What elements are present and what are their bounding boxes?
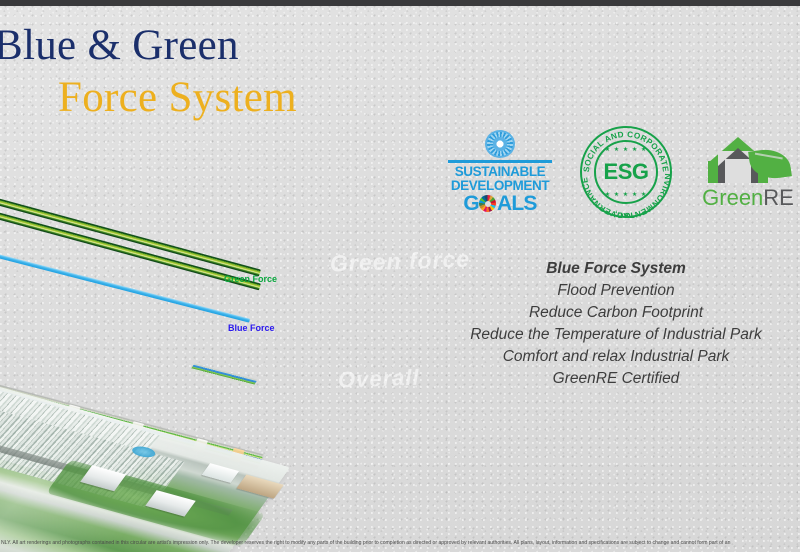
esg-center-text: ESG — [580, 159, 672, 185]
greenre-logo: GreenRE — [700, 135, 796, 210]
feature-heading: Blue Force System — [440, 258, 792, 280]
certification-logos: SUSTAINABLE DEVELOPMENT G ALS SOCIAL AND… — [448, 124, 796, 220]
sdg-color-wheel-icon — [479, 195, 496, 212]
esg-stars-top: ★ ★ ★ ★ ★ — [580, 146, 672, 153]
blue-force-feature-list: Blue Force System Flood Prevention Reduc… — [440, 258, 792, 390]
feature-item: Reduce Carbon Footprint — [440, 302, 792, 324]
window-top-bar — [0, 0, 800, 6]
feature-item: Flood Prevention — [440, 280, 792, 302]
title-line-force-system: Force System — [58, 72, 420, 124]
greenre-word-re: RE — [763, 185, 794, 210]
title-line-blue-and-green: Blue & Green — [0, 20, 420, 72]
green-force-band-lower — [0, 208, 261, 290]
greenre-word-green: Green — [702, 185, 763, 210]
page-title: Blue & Green Force System — [0, 20, 420, 124]
feature-item: Comfort and relax Industrial Park — [440, 346, 792, 368]
sdg-divider — [448, 160, 552, 163]
feature-item: GreenRE Certified — [440, 368, 792, 390]
aerial-masterplan-render — [0, 369, 361, 541]
sdg-line-2: DEVELOPMENT — [448, 179, 552, 193]
green-force-label: Green Force — [224, 274, 277, 284]
blue-force-label: Blue Force — [228, 323, 275, 333]
esg-stars-bottom: ★ ★ ★ ★ ★ — [580, 191, 672, 198]
sdg-goals-line: G ALS — [448, 193, 552, 215]
greenre-wordmark: GreenRE — [700, 186, 796, 210]
esg-seal-logo: SOCIAL AND CORPORATE ENVIRONMENTAL, GOVE… — [580, 126, 672, 218]
feature-item: Reduce the Temperature of Industrial Par… — [440, 324, 792, 346]
sustainable-development-goals-logo: SUSTAINABLE DEVELOPMENT G ALS — [448, 130, 552, 215]
presentation-slide: Green force Overall Blue & Green Force S… — [0, 0, 800, 552]
greenre-roof-leaf-icon — [706, 135, 790, 185]
roof-inner-cutout — [725, 159, 751, 183]
footer-disclaimer: NLY. All art renderings and photographs … — [0, 540, 800, 547]
sdg-line-1: SUSTAINABLE — [448, 165, 552, 179]
sdg-goals-prefix: G — [463, 193, 479, 215]
sdg-goals-suffix: ALS — [497, 193, 537, 215]
united-nations-emblem-icon — [485, 130, 515, 158]
